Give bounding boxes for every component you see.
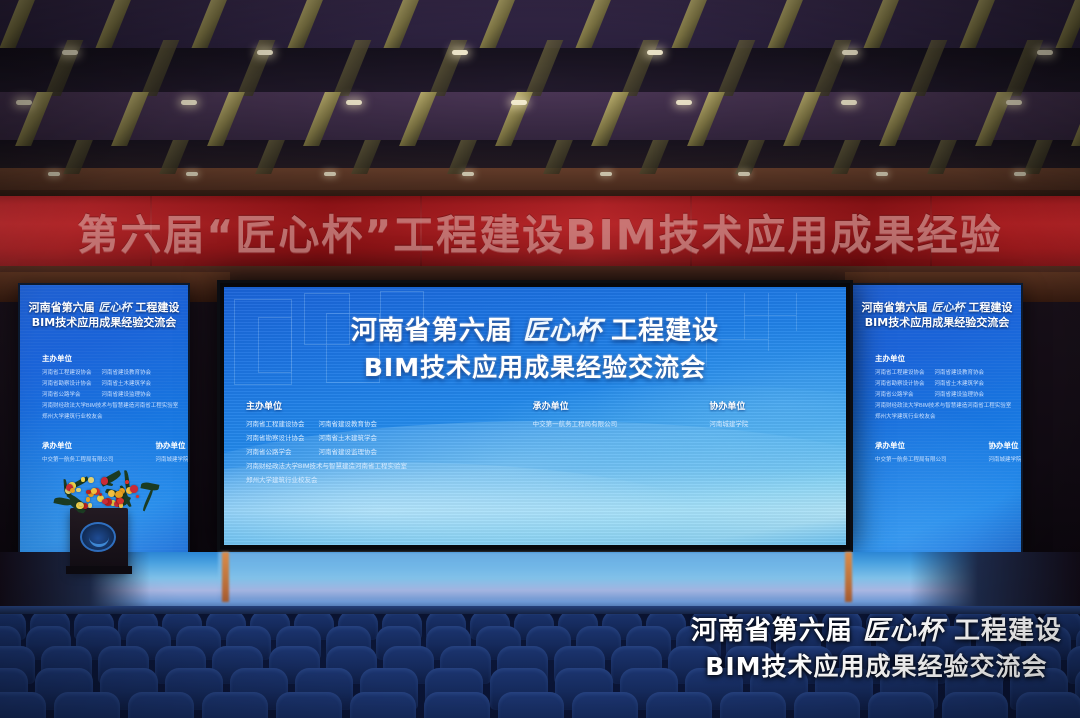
organizer-coorganizer-block: 协办单位 河南城建学院	[709, 399, 824, 484]
list-item: 河南城建学院	[156, 455, 189, 463]
list-item: 中交第一航务工程局有限公司	[533, 418, 710, 428]
list-item: 河南省公路学会	[875, 390, 925, 398]
stage-floor-shadow-right	[910, 552, 1080, 614]
standee-left-title-part2: 工程建设	[135, 301, 179, 314]
screen-title: 河南省第六届 匠心杯 工程建设 BIM技术应用成果经验交流会	[224, 313, 846, 385]
list-item: 河南省土木建筑学会	[935, 379, 985, 387]
list-item: 郑州大学建筑行业校友会	[875, 412, 1021, 420]
flower-petal	[91, 488, 97, 494]
audience-seat	[202, 692, 268, 718]
organizer-coorganizer-heading: 协办单位	[709, 399, 824, 412]
list-item: 河南省建设教育协会	[102, 368, 152, 376]
standee-right-undertaker: 承办单位 中交第一航务工程局有限公司	[875, 440, 947, 463]
led-screen-frame: 河南省第六届 匠心杯 工程建设 BIM技术应用成果经验交流会 主办单位 河南省工…	[217, 280, 853, 552]
audience-seat	[276, 692, 342, 718]
organizer-host-block: 主办单位 河南省工程建设协会 河南省勘察设计协会 河南省公路学会 河南省建设教育…	[246, 399, 533, 484]
standee-right-host-heading: 主办单位	[875, 353, 1021, 364]
audience-seat	[646, 692, 712, 718]
list-item: 河南省公路学会	[246, 446, 305, 456]
banner-text: 第六届“匠心杯”工程建设BIM技术应用成果经验	[77, 201, 1002, 261]
flower-petal	[86, 490, 90, 494]
standee-left-body: 主办单位 河南省工程建设协会 河南省勘察设计协会 河南省公路学会 河南省建设教育…	[42, 353, 188, 463]
flower-petal	[119, 503, 123, 507]
stage-light-post	[222, 552, 229, 602]
list-item: 河南省建设监理协会	[102, 390, 152, 398]
standee-right-title-part1: 河南省第六届	[862, 301, 928, 314]
speaker-podium	[70, 508, 128, 570]
screen-title-line2: BIM技术应用成果经验交流会	[224, 350, 846, 386]
list-item: 河南城建学院	[709, 418, 824, 428]
list-item: 中交第一航务工程局有限公司	[875, 455, 947, 463]
audience-seat	[54, 692, 120, 718]
organizer-undertaker-block: 承办单位 中交第一航务工程局有限公司	[533, 399, 710, 484]
screen-title-part1: 河南省第六届	[351, 316, 513, 346]
podium-base	[66, 566, 132, 574]
organizer-host-heading: 主办单位	[246, 399, 533, 412]
standee-right-body: 主办单位 河南省工程建设协会 河南省勘察设计协会 河南省公路学会 河南省建设教育…	[875, 353, 1021, 463]
flower-petal	[81, 477, 86, 482]
audience-seat	[720, 692, 786, 718]
ceiling	[0, 0, 1080, 200]
ceiling-shadow	[0, 0, 1080, 200]
audience-seat	[572, 692, 638, 718]
screen-title-part2: 工程建设	[611, 316, 719, 346]
flower-petal	[88, 477, 93, 482]
stage-light-post	[845, 552, 852, 602]
standee-right-title: 河南省第六届 匠心杯 工程建设 BIM技术应用成果经验交流会	[853, 301, 1021, 331]
audience-seat	[498, 692, 564, 718]
list-item: 河南省建设监理协会	[319, 446, 378, 456]
overlay-title-cursive: 匠心杯	[863, 616, 944, 646]
standee-right-title-part2: 工程建设	[968, 301, 1012, 314]
overlay-title-part2: 工程建设	[954, 616, 1062, 646]
audience-seat	[868, 692, 934, 718]
standee-right: 河南省第六届 匠心杯 工程建设 BIM技术应用成果经验交流会 主办单位 河南省工…	[851, 283, 1023, 561]
audience-seat	[424, 692, 490, 718]
flower-petal	[130, 485, 138, 493]
list-item: 河南省勘察设计协会	[875, 379, 925, 387]
stage-floor-reflection	[218, 552, 852, 600]
led-screen: 河南省第六届 匠心杯 工程建设 BIM技术应用成果经验交流会 主办单位 河南省工…	[224, 287, 846, 545]
standee-left-undertaker: 承办单位 中交第一航务工程局有限公司	[42, 440, 114, 463]
flower-petal	[99, 493, 102, 496]
audience-seat	[350, 692, 416, 718]
audience-seat	[1016, 692, 1080, 718]
list-item: 河南省土木建筑学会	[319, 432, 378, 442]
podium-emblem-icon	[80, 522, 116, 552]
organizer-undertaker-heading: 承办单位	[533, 399, 710, 412]
standee-right-title-line2: BIM技术应用成果经验交流会	[853, 316, 1021, 331]
audience-seat	[794, 692, 860, 718]
list-item: 河南省勘察设计协会	[246, 432, 305, 442]
flower-petal	[88, 503, 92, 507]
standee-left-host-col2: 河南省建设教育协会 河南省土木建筑学会 河南省建设监理协会	[102, 368, 152, 398]
flower-petal	[125, 480, 129, 484]
flower-petal	[101, 477, 109, 485]
list-item: 河南城建学院	[989, 455, 1022, 463]
banner-wrinkle	[690, 196, 692, 266]
banner-wrinkle	[930, 196, 932, 266]
list-item: 河南财经政法大学BIM技术与智慧建造河南省工程实验室	[875, 401, 1021, 409]
list-item: 中交第一航务工程局有限公司	[42, 455, 114, 463]
list-item: 河南省公路学会	[42, 390, 92, 398]
list-item: 河南省土木建筑学会	[102, 379, 152, 387]
standee-left-title-line2: BIM技术应用成果经验交流会	[20, 316, 188, 331]
flower-petal	[70, 488, 75, 493]
list-item: 河南省建设教育协会	[319, 418, 378, 428]
standee-right-host-col2: 河南省建设教育协会 河南省土木建筑学会 河南省建设监理协会	[935, 368, 985, 398]
flower-petal	[117, 498, 123, 504]
list-item: 河南省工程建设协会	[875, 368, 925, 376]
conference-hall-photo: 第六届“匠心杯”工程建设BIM技术应用成果经验 河南省第六届 匠心杯 工程建设 …	[0, 0, 1080, 718]
standee-left-coorganizer: 协办单位 河南城建学院	[156, 440, 189, 463]
overlay-title-line2: BIM技术应用成果经验交流会	[691, 650, 1062, 685]
list-item: 河南省工程建设协会	[42, 368, 92, 376]
overlay-title-part1: 河南省第六届	[691, 616, 853, 646]
screen-organizers: 主办单位 河南省工程建设协会 河南省勘察设计协会 河南省公路学会 河南省建设教育…	[224, 399, 846, 484]
organizer-host-col2: 河南省建设教育协会 河南省土木建筑学会 河南省建设监理协会	[319, 418, 378, 456]
flower-petal	[76, 488, 81, 493]
audience-seat	[942, 692, 1008, 718]
list-item: 河南财经政法大学BIM技术与智慧建造河南省工程实验室	[42, 401, 188, 409]
audience-seat	[128, 692, 194, 718]
organizer-host-col1: 河南省工程建设协会 河南省勘察设计协会 河南省公路学会	[246, 418, 305, 456]
standee-left-host-col1: 河南省工程建设协会 河南省勘察设计协会 河南省公路学会	[42, 368, 92, 398]
list-item: 河南省勘察设计协会	[42, 379, 92, 387]
banner-wrinkle	[150, 196, 152, 266]
list-item: 郑州大学建筑行业校友会	[42, 412, 188, 420]
audience-seat	[0, 692, 46, 718]
list-item: 河南省建设教育协会	[935, 368, 985, 376]
list-item: 河南省工程建设协会	[246, 418, 305, 428]
flower-petal	[79, 503, 82, 506]
screen-title-cursive: 匠心杯	[523, 316, 601, 346]
list-item: 河南省建设监理协会	[935, 390, 985, 398]
list-item: 河南财经政法大学BIM技术与智慧建造河南省工程实验室	[246, 460, 533, 470]
flower-petal	[136, 495, 140, 499]
standee-left-title: 河南省第六届 匠心杯 工程建设 BIM技术应用成果经验交流会	[20, 301, 188, 331]
banner-wrinkle	[420, 196, 422, 266]
list-item: 郑州大学建筑行业校友会	[246, 474, 533, 484]
standee-left-host-heading: 主办单位	[42, 353, 188, 364]
standee-right-host-col1: 河南省工程建设协会 河南省勘察设计协会 河南省公路学会	[875, 368, 925, 398]
floral-arrangement	[52, 468, 148, 514]
red-banner: 第六届“匠心杯”工程建设BIM技术应用成果经验	[0, 196, 1080, 266]
standee-right-coorganizer: 协办单位 河南城建学院	[989, 440, 1022, 463]
standee-left-title-cursive: 匠心杯	[99, 301, 132, 314]
standee-right-title-cursive: 匠心杯	[932, 301, 965, 314]
overlay-title: 河南省第六届 匠心杯 工程建设 BIM技术应用成果经验交流会	[691, 614, 1062, 684]
standee-left-title-part1: 河南省第六届	[29, 301, 95, 314]
flower-petal	[86, 497, 91, 502]
